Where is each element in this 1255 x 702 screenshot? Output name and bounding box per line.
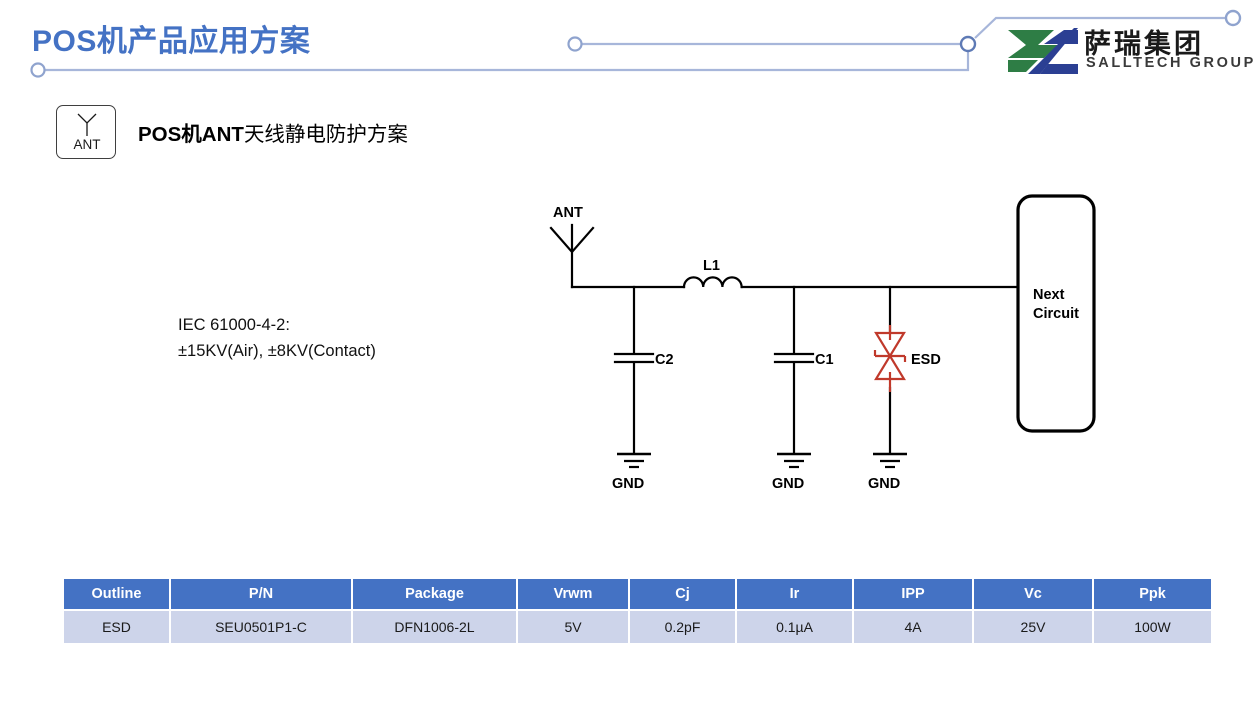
table-header-row: Outline P/N Package Vrwm Cj Ir IPP Vc Pp… xyxy=(64,579,1211,609)
cell-ipp: 4A xyxy=(854,611,972,643)
cell-outline: ESD xyxy=(64,611,169,643)
next-circuit-line1: Next xyxy=(1033,286,1079,305)
column-header-ir: Ir xyxy=(737,579,852,609)
cell-vc: 25V xyxy=(974,611,1092,643)
capacitor-c1-label: C1 xyxy=(815,352,834,368)
esd-device-label: ESD xyxy=(911,352,941,368)
gnd-label-2: GND xyxy=(772,476,804,492)
section-subtitle-sans: POS机ANT xyxy=(138,123,244,146)
logo-name-en: SALLTECH GROUP xyxy=(1086,55,1255,71)
esd-tvs-symbol xyxy=(875,325,905,392)
cell-vrwm: 5V xyxy=(518,611,628,643)
cell-ir: 0.1µA xyxy=(737,611,852,643)
page-title: POS机产品应用方案 xyxy=(32,16,310,60)
capacitor-c2-label: C2 xyxy=(655,352,674,368)
cell-ppk: 100W xyxy=(1094,611,1211,643)
section-subtitle-serif: 天线静电防护方案 xyxy=(244,122,408,146)
column-header-vrwm: Vrwm xyxy=(518,579,628,609)
iec-note-line2: ±15KV(Air), ±8KV(Contact) xyxy=(178,338,376,364)
ant-chip-badge: ANT xyxy=(56,105,116,159)
spec-table: Outline P/N Package Vrwm Cj Ir IPP Vc Pp… xyxy=(62,577,1213,645)
column-header-pn: P/N xyxy=(171,579,351,609)
column-header-ipp: IPP xyxy=(854,579,972,609)
next-circuit-line2: Circuit xyxy=(1033,305,1079,324)
cell-cj: 0.2pF xyxy=(630,611,735,643)
section-subtitle: POS机ANT天线静电防护方案 xyxy=(138,117,408,147)
cell-pn: SEU0501P1-C xyxy=(171,611,351,643)
column-header-package: Package xyxy=(353,579,516,609)
next-circuit-label: Next Circuit xyxy=(1033,286,1079,324)
cell-package: DFN1006-2L xyxy=(353,611,516,643)
column-header-vc: Vc xyxy=(974,579,1092,609)
ant-node-label: ANT xyxy=(553,205,583,221)
gnd-label-1: GND xyxy=(612,476,644,492)
inductor-label: L1 xyxy=(703,258,720,274)
column-header-ppk: Ppk xyxy=(1094,579,1211,609)
iec-standard-note: IEC 61000-4-2: ±15KV(Air), ±8KV(Contact) xyxy=(178,312,376,364)
column-header-cj: Cj xyxy=(630,579,735,609)
iec-note-line1: IEC 61000-4-2: xyxy=(178,312,376,338)
gnd-label-3: GND xyxy=(868,476,900,492)
brand-logo: 萨瑞集团 SALLTECH GROUP xyxy=(1004,22,1229,82)
table-row: ESD SEU0501P1-C DFN1006-2L 5V 0.2pF 0.1µ… xyxy=(64,611,1211,643)
column-header-outline: Outline xyxy=(64,579,169,609)
antenna-icon xyxy=(57,110,117,138)
salltech-logo-mark xyxy=(1004,24,1080,76)
ant-chip-label: ANT xyxy=(57,137,117,152)
